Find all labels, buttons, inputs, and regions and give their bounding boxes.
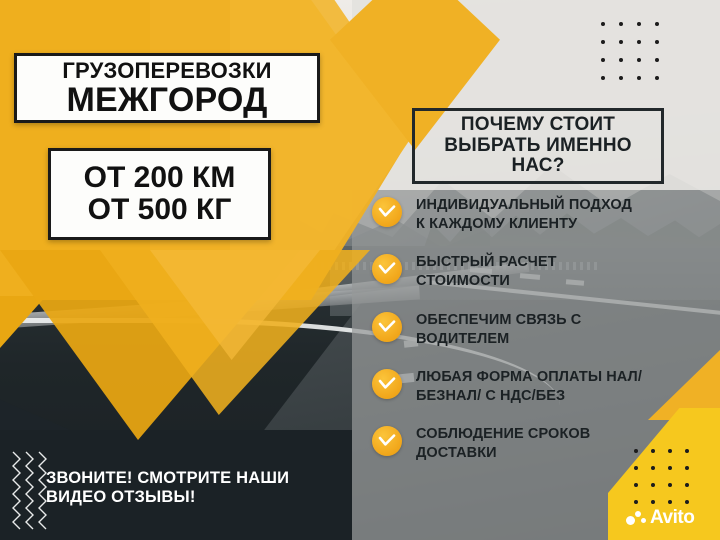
specs-sign: ОТ 200 КМ ОТ 500 КГ — [48, 148, 271, 240]
benefit-item: ИНДИВИДУАЛЬНЫЙ ПОДХОД К КАЖДОМУ КЛИЕНТУ — [372, 196, 716, 234]
avito-dots-icon — [626, 509, 648, 527]
decor-dot — [655, 58, 659, 62]
benefit-line-2: К КАЖДОМУ КЛИЕНТУ — [416, 215, 632, 234]
benefit-text: ОБЕСПЕЧИМ СВЯЗЬ С ВОДИТЕЛЕМ — [416, 311, 581, 349]
headline-text: ПОЧЕМУ СТОИТ ВЫБРАТЬ ИМЕННО НАС? — [444, 115, 631, 178]
benefits-list: ИНДИВИДУАЛЬНЫЙ ПОДХОД К КАЖДОМУ КЛИЕНТУ … — [372, 196, 716, 482]
decor-dot — [651, 483, 655, 487]
check-circle-icon — [372, 312, 402, 342]
cta-line-1: ЗВОНИТЕ! СМОТРИТЕ НАШИ — [46, 469, 289, 487]
advertisement-banner: ГРУЗОПЕРЕВОЗКИ МЕЖГОРОД ОТ 200 КМ ОТ 500… — [0, 0, 720, 540]
decor-dot — [634, 483, 638, 487]
decor-dot — [601, 58, 605, 62]
benefit-text: СОБЛЮДЕНИЕ СРОКОВ ДОСТАВКИ — [416, 425, 590, 463]
decor-dot — [655, 40, 659, 44]
check-circle-icon — [372, 254, 402, 284]
benefit-line-1: ЛЮБАЯ ФОРМА ОПЛАТЫ НАЛ/ — [416, 369, 642, 385]
decor-dot — [634, 466, 638, 470]
decor-dot — [637, 58, 641, 62]
dot-grid-bottom-right — [634, 449, 689, 504]
decor-dot — [685, 483, 689, 487]
cta-text: ЗВОНИТЕ! СМОТРИТЕ НАШИ ВИДЕО ОТЗЫВЫ! — [46, 469, 336, 507]
decor-dot — [651, 500, 655, 504]
spec-distance: ОТ 200 КМ — [84, 162, 236, 194]
benefit-line-2: ВОДИТЕЛЕМ — [416, 330, 581, 349]
decor-dot — [668, 483, 672, 487]
decor-dot — [637, 22, 641, 26]
decor-dot — [651, 449, 655, 453]
decor-dot — [685, 449, 689, 453]
title-line-1: ГРУЗОПЕРЕВОЗКИ — [62, 60, 271, 82]
spec-weight: ОТ 500 КГ — [88, 194, 232, 226]
decor-dot — [619, 76, 623, 80]
decor-dot — [685, 466, 689, 470]
decor-dot — [651, 466, 655, 470]
decor-dot — [619, 40, 623, 44]
dot-grid-top-right — [601, 22, 659, 80]
avito-wordmark: Avito — [650, 508, 694, 527]
check-circle-icon — [372, 197, 402, 227]
decor-dot — [655, 22, 659, 26]
benefit-item: ОБЕСПЕЧИМ СВЯЗЬ С ВОДИТЕЛЕМ — [372, 311, 716, 349]
benefit-line-2: ДОСТАВКИ — [416, 444, 590, 463]
headline-line-3: НАС? — [511, 155, 564, 176]
benefit-line-1: СОБЛЮДЕНИЕ СРОКОВ — [416, 426, 590, 442]
benefit-line-2: БЕЗНАЛ/ С НДС/БЕЗ — [416, 387, 642, 406]
benefit-text: БЫСТРЫЙ РАСЧЕТ СТОИМОСТИ — [416, 253, 557, 291]
check-circle-icon — [372, 426, 402, 456]
decor-dot — [601, 40, 605, 44]
benefit-line-2: СТОИМОСТИ — [416, 272, 557, 291]
title-line-2: МЕЖГОРОД — [66, 83, 267, 117]
call-to-action: ЗВОНИТЕ! СМОТРИТЕ НАШИ ВИДЕО ОТЗЫВЫ! — [46, 469, 336, 507]
check-circle-icon — [372, 369, 402, 399]
benefit-line-1: БЫСТРЫЙ РАСЧЕТ — [416, 254, 557, 270]
decor-dot — [637, 40, 641, 44]
decor-dot — [601, 76, 605, 80]
benefit-item: БЫСТРЫЙ РАСЧЕТ СТОИМОСТИ — [372, 253, 716, 291]
decor-dot — [655, 76, 659, 80]
headline-line-2: ВЫБРАТЬ ИМЕННО — [444, 135, 631, 156]
decor-dot — [634, 449, 638, 453]
cta-line-2: ВИДЕО ОТЗЫВЫ! — [46, 488, 196, 506]
benefit-text: ЛЮБАЯ ФОРМА ОПЛАТЫ НАЛ/ БЕЗНАЛ/ С НДС/БЕ… — [416, 368, 642, 406]
benefit-text: ИНДИВИДУАЛЬНЫЙ ПОДХОД К КАЖДОМУ КЛИЕНТУ — [416, 196, 632, 234]
decor-dot — [619, 58, 623, 62]
wavy-lines-decoration — [8, 450, 50, 534]
headline-line-1: ПОЧЕМУ СТОИТ — [461, 114, 615, 135]
decor-dot — [668, 500, 672, 504]
decor-dot — [685, 500, 689, 504]
decor-dot — [668, 449, 672, 453]
main-title-sign: ГРУЗОПЕРЕВОЗКИ МЕЖГОРОД — [14, 53, 320, 123]
decor-dot — [637, 76, 641, 80]
decor-dot — [601, 22, 605, 26]
decor-dot — [668, 466, 672, 470]
decor-dot — [619, 22, 623, 26]
decor-dot — [634, 500, 638, 504]
benefit-line-1: ИНДИВИДУАЛЬНЫЙ ПОДХОД — [416, 197, 632, 213]
benefit-line-1: ОБЕСПЕЧИМ СВЯЗЬ С — [416, 312, 581, 328]
headline-box: ПОЧЕМУ СТОИТ ВЫБРАТЬ ИМЕННО НАС? — [412, 108, 664, 184]
benefit-item: ЛЮБАЯ ФОРМА ОПЛАТЫ НАЛ/ БЕЗНАЛ/ С НДС/БЕ… — [372, 368, 716, 406]
avito-watermark: Avito — [626, 508, 694, 527]
